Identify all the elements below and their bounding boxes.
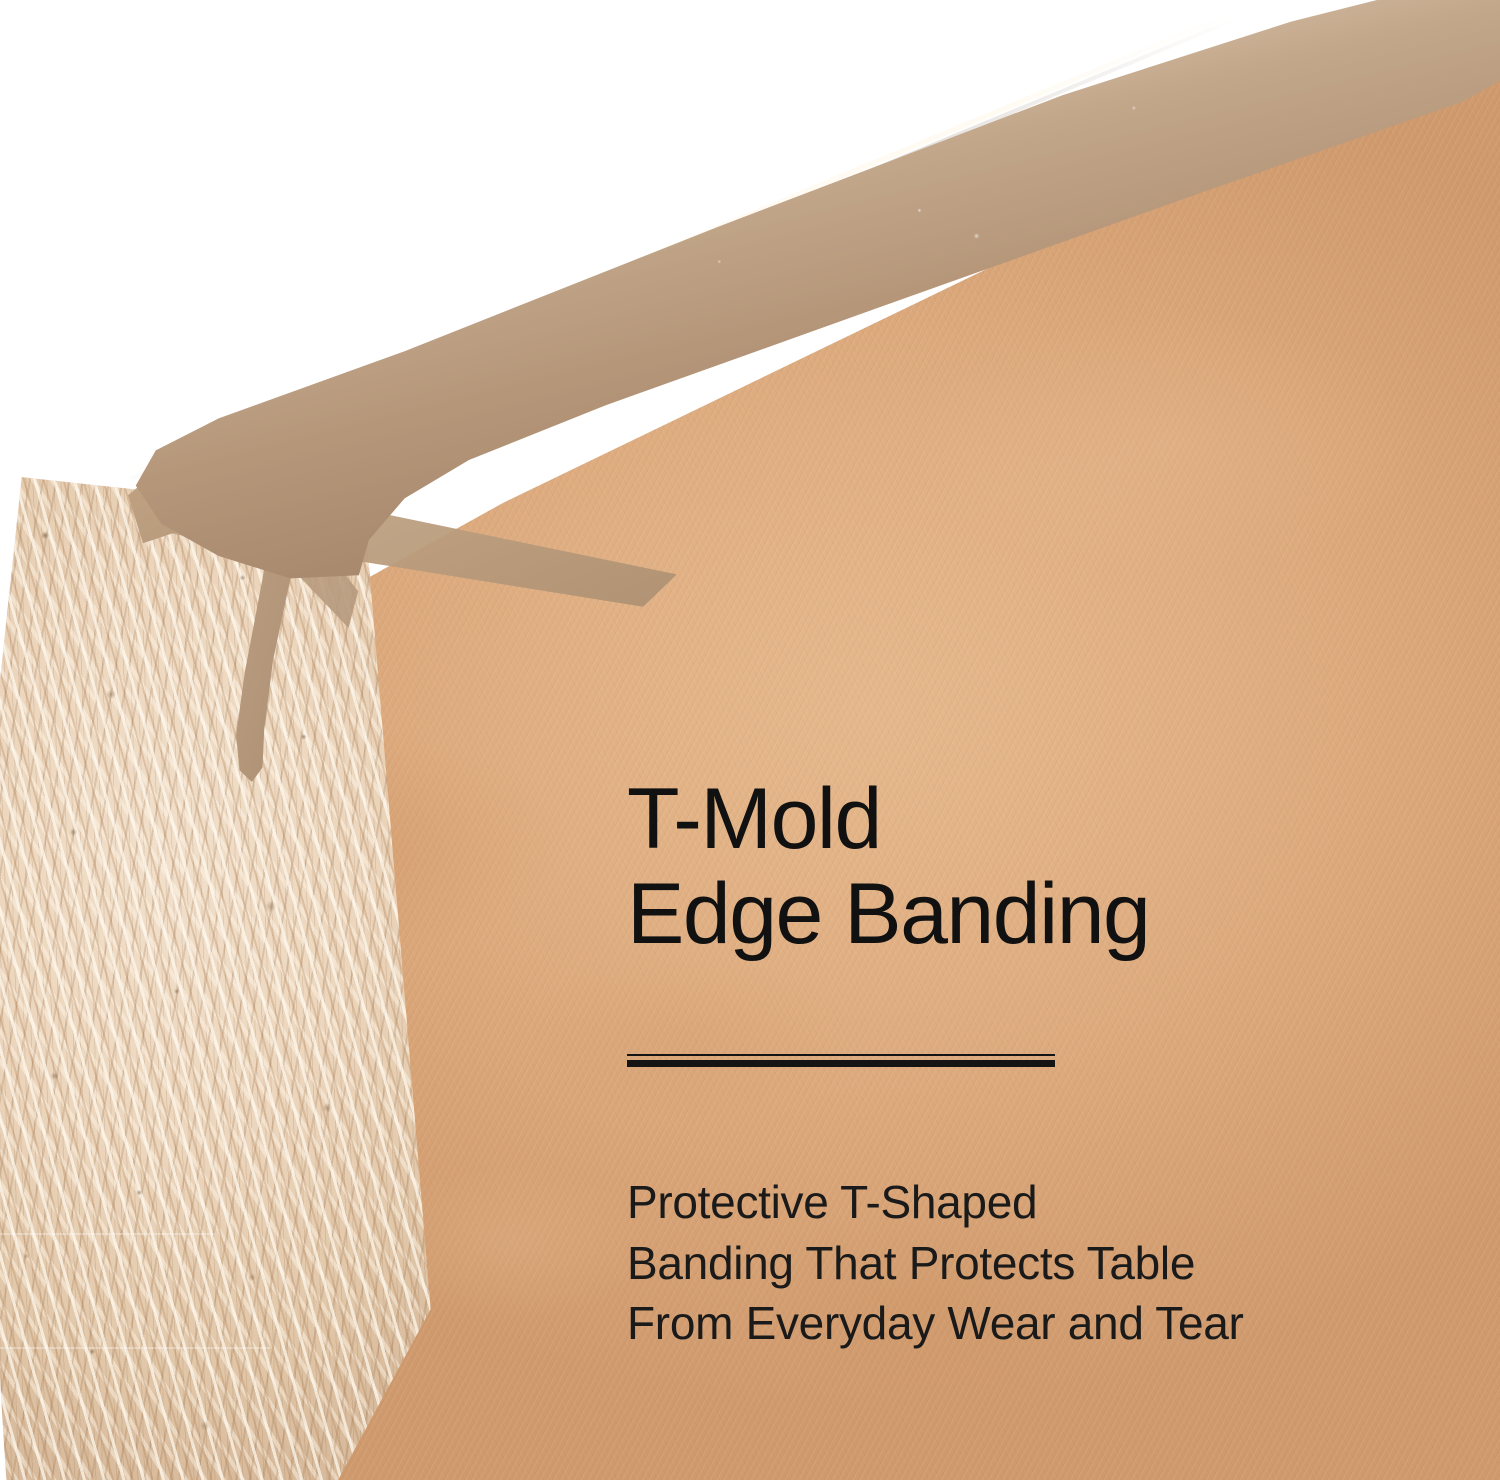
headline-block: T-Mold Edge Banding xyxy=(627,772,1367,961)
divider xyxy=(627,1054,1055,1067)
page-title: T-Mold Edge Banding xyxy=(627,772,1367,961)
particleboard-seam-lower xyxy=(0,1347,270,1349)
description-text: Protective T-Shaped Banding That Protect… xyxy=(627,1172,1387,1354)
particleboard-seam-upper xyxy=(0,1233,215,1235)
divider-rule-thick xyxy=(627,1060,1055,1067)
product-infographic: T-Mold Edge Banding Protective T-Shaped … xyxy=(0,0,1500,1480)
